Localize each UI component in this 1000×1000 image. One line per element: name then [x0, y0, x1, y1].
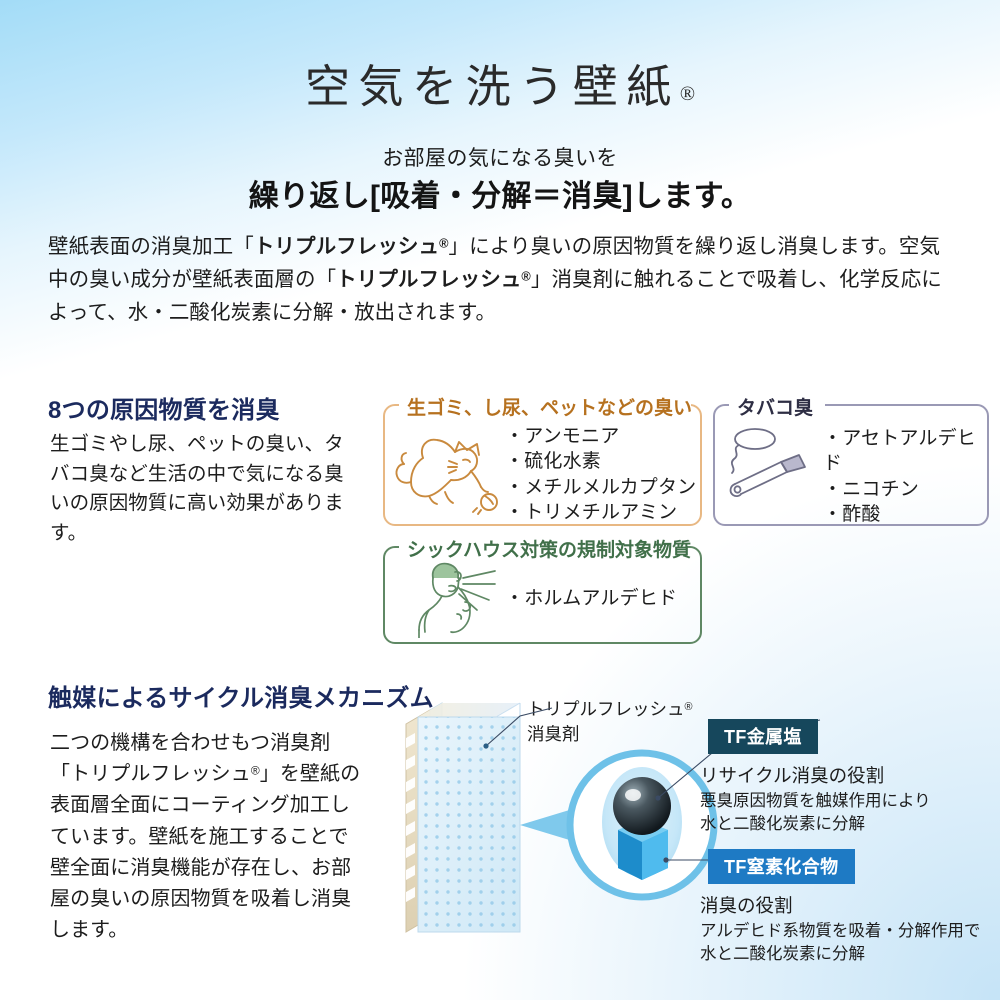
tf-metal-salt-detail-1: 悪臭原因物質を触媒作用により — [700, 790, 990, 813]
registered-mark-icon: ® — [521, 268, 530, 283]
coughing-person-icon — [411, 558, 507, 643]
odor-box-tobacco-list: ・アセトアルデヒド ・ニコチン ・酢酸 — [823, 426, 987, 527]
odor-box-pet: 生ゴミ、し尿、ペットなどの臭い — [383, 404, 702, 526]
page-title-text: 空気を洗う壁紙 — [305, 62, 680, 112]
tf-nitrogen-detail-2: 水と二酸化炭素に分解 — [700, 943, 1000, 966]
list-item: ・ニコチン — [823, 477, 987, 502]
odor-box-sickhouse: シックハウス対策の規制対象物質 — [383, 546, 702, 644]
list-item: ・硫化水素 — [505, 449, 696, 474]
lead-text-1: 壁紙表面の消臭加工「 — [48, 235, 254, 258]
brand-name-3: トリプルフレッシュ — [70, 763, 251, 785]
odor-section-heading: 8つの原因物質を消臭 — [48, 390, 280, 425]
badge-tf-nitrogen-compound: TF窒素化合物 — [708, 849, 855, 884]
mechanism-body-2: 」を壁紙の表面層全面にコーティング加工しています。壁紙を施工することで壁全面に消… — [50, 763, 360, 941]
mechanism-section-heading: 触媒によるサイクル消臭メカニズム — [48, 678, 434, 713]
cat-icon — [393, 424, 505, 521]
odor-box-tobacco: タバコ臭 ・アセトアルデヒド ・ニコチン ・酢酸 — [713, 404, 989, 526]
tf-metal-salt-description: リサイクル消臭の役割 悪臭原因物質を触媒作用により 水と二酸化炭素に分解 — [700, 762, 990, 837]
mechanism-section-body: 二つの機構を合わせもつ消臭剤「トリプルフレッシュ®」を壁紙の表面層全面にコーティ… — [50, 728, 368, 946]
list-item: ・アンモニア — [505, 424, 696, 449]
tf-metal-salt-role: リサイクル消臭の役割 — [700, 762, 990, 788]
infographic-page: 空気を洗う壁紙® お部屋の気になる臭いを 繰り返し[吸着・分解＝消臭]します。 … — [0, 0, 1000, 1000]
lead-paragraph: 壁紙表面の消臭加工「トリプルフレッシュ®」により臭いの原因物質を繰り返し消臭しま… — [48, 230, 953, 330]
odor-box-pet-legend: 生ゴミ、し尿、ペットなどの臭い — [399, 393, 700, 420]
list-item: ・ホルムアルデヒド — [505, 586, 677, 611]
list-item: ・酢酸 — [823, 502, 987, 527]
brand-name-2: トリプルフレッシュ — [336, 268, 521, 291]
tf-nitrogen-detail-1: アルデヒド系物質を吸着・分解作用で — [700, 920, 1000, 943]
list-item: ・アセトアルデヒド — [823, 426, 987, 477]
subtitle-line-1: お部屋の気になる臭いを — [0, 142, 1000, 172]
list-item: ・トリメチルアミン — [505, 500, 696, 525]
tf-nitrogen-description: 消臭の役割 アルデヒド系物質を吸着・分解作用で 水と二酸化炭素に分解 — [700, 892, 1000, 967]
odor-box-tobacco-legend: タバコ臭 — [729, 393, 821, 420]
tf-metal-salt-sphere — [613, 777, 671, 835]
registered-mark-icon: ® — [251, 764, 260, 778]
wallpaper-cross-section — [406, 703, 520, 932]
odor-box-pet-list: ・アンモニア ・硫化水素 ・メチルメルカプタン ・トリメチルアミン — [505, 424, 696, 525]
list-item: ・メチルメルカプタン — [505, 475, 696, 500]
badge-tf-metal-salt: TF金属塩 — [708, 719, 818, 754]
brand-name-1: トリプルフレッシュ — [254, 235, 439, 258]
tf-metal-salt-detail-2: 水と二酸化炭素に分解 — [700, 813, 990, 836]
registered-mark-icon: ® — [680, 83, 695, 105]
odor-box-sickhouse-list: ・ホルムアルデヒド — [505, 586, 677, 611]
registered-mark-icon: ® — [439, 235, 448, 250]
tf-nitrogen-role: 消臭の役割 — [700, 892, 1000, 918]
odor-section-body: 生ゴミやし尿、ペットの臭い、タバコ臭など生活の中で気になる臭いの原因物質に高い効… — [50, 430, 350, 549]
subtitle-line-2: 繰り返し[吸着・分解＝消臭]します。 — [0, 171, 1000, 215]
cigarette-icon — [721, 426, 817, 511]
page-title: 空気を洗う壁紙® — [0, 50, 1000, 115]
